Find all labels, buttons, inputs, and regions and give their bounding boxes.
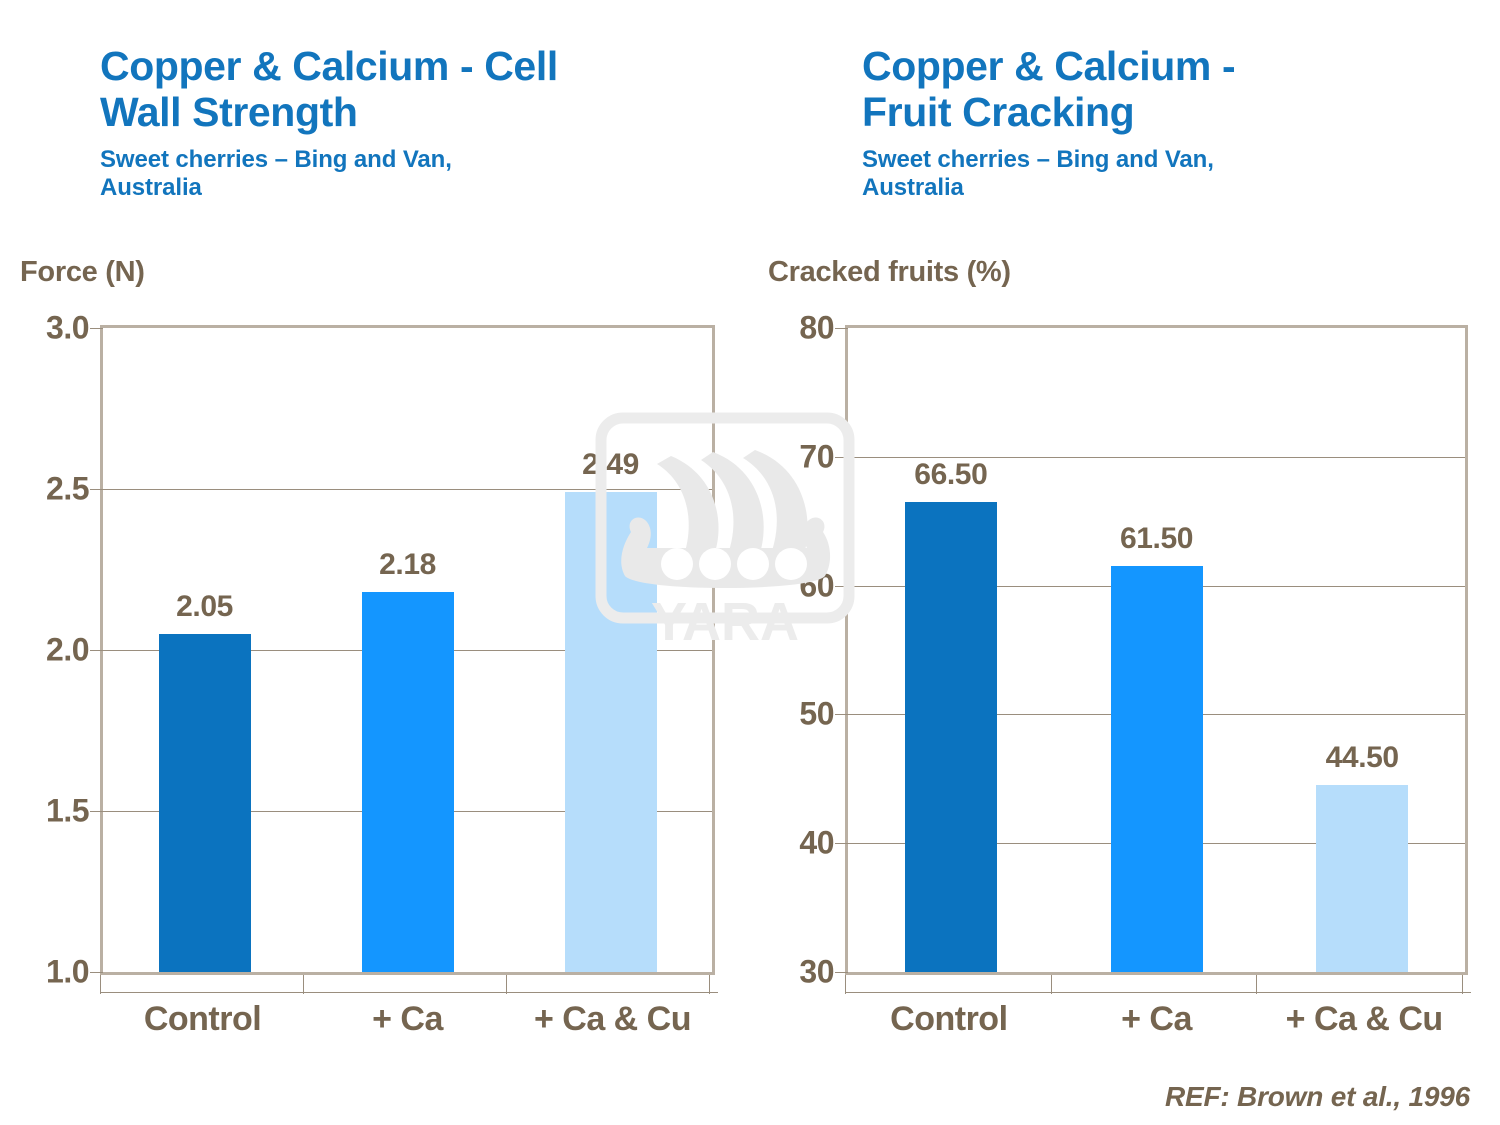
x-axis-label: + Ca (1053, 1000, 1261, 1039)
slide-canvas: Copper & Calcium - Cell Wall Strength Sw… (0, 0, 1500, 1125)
right-x-axis-labels: Control+ Ca+ Ca & Cu (845, 1000, 1468, 1039)
y-axis-tick-mark (90, 650, 103, 651)
y-axis-tick-mark (90, 972, 103, 973)
y-axis-tick-mark (90, 328, 103, 329)
chart-panel-cell-wall-strength: Copper & Calcium - Cell Wall Strength Sw… (0, 0, 750, 1125)
left-chart-subtitle-line1: Sweet cherries – Bing and Van, (100, 146, 740, 174)
x-axis-label: + Ca & Cu (1260, 1000, 1468, 1039)
bar-ca-cu[interactable] (1316, 785, 1408, 972)
x-axis-tick-mark (1256, 975, 1257, 994)
right-chart-subtitle-line1: Sweet cherries – Bing and Van, (862, 146, 1482, 174)
x-axis-tick-mark (1462, 975, 1463, 994)
right-chart-title: Copper & Calcium - Fruit Cracking (862, 44, 1482, 136)
y-axis-tick-label: 40 (772, 825, 834, 862)
left-chart-title-line2: Wall Strength (100, 90, 740, 136)
y-axis-tick-label: 50 (772, 696, 834, 733)
left-plot-area: 3.02.52.01.51.0 2.052.182.49 (100, 325, 715, 975)
x-axis-tick-mark (100, 975, 101, 994)
right-title-block: Copper & Calcium - Fruit Cracking Sweet … (862, 44, 1482, 202)
y-axis-tick-label: 60 (772, 567, 834, 604)
bar-ca-cu[interactable] (565, 492, 657, 972)
x-axis-tick-mark (709, 975, 710, 994)
y-axis-tick-mark (835, 972, 848, 973)
bar-slot: 66.50 (848, 328, 1054, 972)
left-chart-subtitle: Sweet cherries – Bing and Van, Australia (100, 146, 740, 203)
right-chart-title-line2: Fruit Cracking (862, 90, 1482, 136)
x-axis-label: Control (100, 1000, 305, 1039)
right-x-axis-line (845, 992, 1471, 993)
x-axis-tick-mark (845, 975, 846, 994)
right-bar-series: 66.5061.5044.50 (848, 328, 1465, 972)
y-axis-tick-mark (90, 811, 103, 812)
x-axis-label: Control (845, 1000, 1053, 1039)
y-axis-tick-label: 70 (772, 438, 834, 475)
left-chart-title-line1: Copper & Calcium - Cell (100, 44, 740, 90)
y-axis-tick-mark (90, 489, 103, 490)
x-axis-tick-mark (303, 975, 304, 994)
x-axis-tick-mark (1051, 975, 1052, 994)
y-axis-tick-label: 3.0 (11, 310, 89, 347)
bar-value-label: 61.50 (1120, 522, 1193, 556)
bar-value-label: 2.49 (582, 448, 639, 482)
left-chart-subtitle-line2: Australia (100, 174, 740, 202)
x-axis-tick-mark (506, 975, 507, 994)
right-plot-area: 807060504030 66.5061.5044.50 (845, 325, 1468, 975)
y-axis-tick-mark (835, 586, 848, 587)
bar-value-label: 2.05 (176, 590, 233, 624)
y-axis-tick-label: 30 (772, 954, 834, 991)
y-axis-tick-mark (835, 328, 848, 329)
right-y-axis-title: Cracked fruits (%) (768, 256, 1011, 289)
bar-control[interactable] (159, 634, 251, 972)
bar-value-label: 2.18 (379, 548, 436, 582)
left-x-axis-labels: Control+ Ca+ Ca & Cu (100, 1000, 715, 1039)
x-axis-label: + Ca & Cu (510, 1000, 715, 1039)
left-y-axis-title: Force (N) (20, 256, 145, 289)
y-axis-tick-label: 2.5 (11, 471, 89, 508)
left-bar-series: 2.052.182.49 (103, 328, 712, 972)
right-chart-subtitle-line2: Australia (862, 174, 1482, 202)
bar-control[interactable] (905, 502, 997, 972)
bar-ca[interactable] (362, 592, 454, 972)
bar-ca[interactable] (1111, 566, 1203, 972)
y-axis-tick-label: 1.5 (11, 793, 89, 830)
right-chart-subtitle: Sweet cherries – Bing and Van, Australia (862, 146, 1482, 203)
bar-slot: 61.50 (1054, 328, 1260, 972)
bar-value-label: 44.50 (1326, 741, 1399, 775)
left-x-axis-line (100, 992, 718, 993)
x-axis-label: + Ca (305, 1000, 510, 1039)
y-axis-tick-mark (835, 457, 848, 458)
right-chart-title-line1: Copper & Calcium - (862, 44, 1482, 90)
y-axis-tick-label: 80 (772, 310, 834, 347)
bar-slot: 2.05 (103, 328, 306, 972)
bar-value-label: 66.50 (914, 458, 987, 492)
bar-slot: 2.18 (306, 328, 509, 972)
left-title-block: Copper & Calcium - Cell Wall Strength Sw… (100, 44, 740, 202)
y-axis-tick-mark (835, 843, 848, 844)
y-axis-tick-label: 1.0 (11, 954, 89, 991)
reference-citation: REF: Brown et al., 1996 (1165, 1081, 1470, 1113)
y-axis-tick-label: 2.0 (11, 632, 89, 669)
bar-slot: 44.50 (1259, 328, 1465, 972)
y-axis-tick-mark (835, 714, 848, 715)
bar-slot: 2.49 (509, 328, 712, 972)
left-chart-title: Copper & Calcium - Cell Wall Strength (100, 44, 740, 136)
